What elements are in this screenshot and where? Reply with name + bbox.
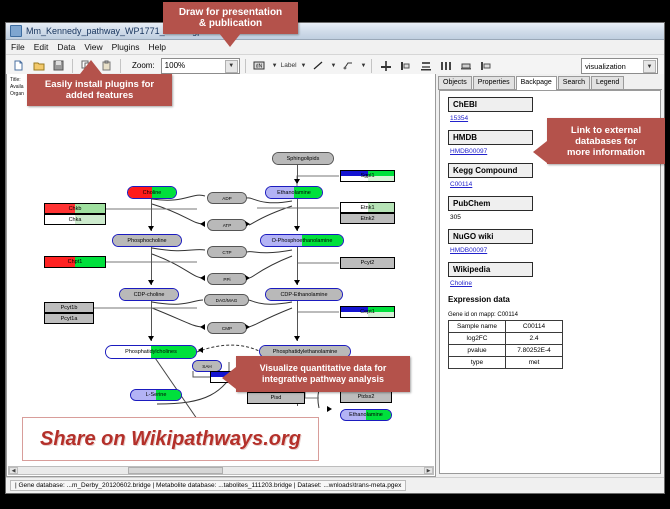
node-label: Pcyt1b — [61, 305, 78, 311]
callout-links-pointer — [533, 141, 547, 163]
metabolite-node-phosphocholine[interactable]: Phosphocholine — [112, 234, 182, 247]
callout-plugins-line2: added features — [66, 90, 134, 101]
row-key: Sample name — [449, 321, 506, 333]
statusbar: | Gene database: ...m_Derby_20120602.bri… — [6, 477, 664, 493]
node-label: Ethanolamine — [277, 190, 311, 196]
callout-plugins-line1: Easily install plugins for — [45, 79, 154, 90]
gene-node-etnk2[interactable]: Etnk2 — [340, 213, 395, 224]
zoom-label: Zoom: — [132, 61, 155, 70]
db-header-nugo-wiki: NuGO wiki — [448, 229, 533, 244]
metabolite-node-cdp-choline[interactable]: CDP-choline — [119, 288, 179, 301]
metabolite-node-ctp[interactable]: CTP — [207, 246, 247, 258]
visualization-value: visualization — [585, 62, 626, 71]
toolbar-separator — [120, 59, 121, 73]
node-label: CDP-Ethanolamine — [280, 292, 327, 298]
db-header-chebi: ChEBI — [448, 97, 533, 112]
chevron-down-icon[interactable]: ▼ — [330, 63, 336, 69]
row-key: pvalue — [449, 345, 506, 357]
new-file-icon[interactable] — [10, 57, 27, 74]
visualization-combobox[interactable]: visualization ▼ — [581, 58, 658, 74]
window-titlebar: Mm_Kennedy_pathway_WP1771_45176.gpml — [6, 23, 664, 40]
line-icon[interactable] — [309, 57, 326, 74]
db-value-pubchem: 305 — [450, 214, 654, 221]
callout-links-line2: databases for — [575, 136, 637, 147]
callout-draw-line2: & publication — [199, 18, 262, 29]
metabolite-node-sah[interactable]: SAH — [192, 360, 222, 372]
node-label: ADP — [222, 196, 231, 201]
row-key: log2FC — [449, 333, 506, 345]
app-icon — [10, 25, 22, 37]
tab-properties[interactable]: Properties — [473, 76, 515, 89]
row-key: type — [449, 357, 506, 369]
callout-links: Link to external databases for more info… — [547, 118, 665, 164]
metabolite-node-choline[interactable]: Choline — [127, 186, 177, 199]
gene-node-pcyt2[interactable]: Pcyt2 — [340, 257, 395, 269]
toolbar-separator — [245, 59, 246, 73]
align-top-icon[interactable] — [377, 57, 394, 74]
menu-data[interactable]: Data — [57, 42, 75, 52]
label-tool-label[interactable]: Label — [281, 62, 297, 69]
node-label: Phosphocholine — [127, 238, 166, 244]
zoom-value: 100% — [165, 61, 185, 70]
node-label: CDP-choline — [134, 292, 165, 298]
node-label: SAH — [202, 364, 211, 369]
arrow-icon — [294, 226, 300, 231]
arrow-icon — [198, 347, 203, 353]
callout-draw-line1: Draw for presentation — [179, 7, 282, 18]
db-header-kegg-compound: Kegg Compound — [448, 163, 533, 178]
callout-draw-pointer — [219, 33, 241, 47]
chevron-down-icon[interactable]: ▼ — [360, 63, 366, 69]
callout-share-text: Share on Wikipathways.org — [40, 428, 301, 451]
toolbar-separator — [72, 59, 73, 73]
scroll-left-icon[interactable]: ◀ — [9, 467, 18, 474]
gene-node-pisd[interactable]: Pisd — [247, 392, 305, 404]
node-label: Chkb — [69, 206, 82, 212]
metabolite-node-phosphatidylcholines[interactable]: Phosphatidylcholines — [105, 345, 197, 359]
distribute-icon[interactable] — [437, 57, 454, 74]
gene-node-chka[interactable]: Chka — [44, 214, 106, 225]
save-icon[interactable] — [50, 57, 67, 74]
db-link-kegg-compound[interactable]: C00114 — [450, 181, 654, 188]
metabolite-node-l-serine[interactable]: L-Serine — [130, 389, 182, 401]
metabolite-node-cmp[interactable]: CMP — [207, 322, 247, 334]
menu-view[interactable]: View — [84, 42, 102, 52]
menu-edit[interactable]: Edit — [34, 42, 49, 52]
node-label: ATP — [223, 223, 232, 228]
arrow-icon — [148, 336, 154, 341]
metabolite-node-ethanolamine[interactable]: Ethanolamine — [265, 186, 323, 199]
node-label: O-Phosphoethanolamine — [272, 238, 333, 244]
arrow-icon — [200, 324, 205, 330]
db-header-hmdb: HMDB — [448, 130, 533, 145]
gene-id-line: Gene id on mapp: C00114 — [448, 312, 654, 318]
screenshot-root: Mm_Kennedy_pathway_WP1771_45176.gpml Fil… — [0, 0, 670, 509]
db-header-wikipedia: Wikipedia — [448, 262, 533, 277]
menu-help[interactable]: Help — [149, 42, 166, 52]
gene-node-cept1[interactable]: Cept1 — [340, 306, 395, 318]
gene-node-etnk1[interactable]: Etnk1 — [340, 202, 395, 213]
metabolite-node-cdp-ethanolamine[interactable]: CDP-Ethanolamine — [265, 288, 343, 301]
node-label: Phosphatidylcholines — [125, 349, 177, 355]
table-row: type met — [449, 357, 563, 369]
callout-links-line3: more information — [567, 147, 645, 158]
flow-line — [297, 301, 298, 341]
chevron-down-icon[interactable]: ▼ — [643, 60, 656, 73]
node-label: Phosphatidylethanolamine — [273, 349, 338, 355]
arrow-icon — [327, 406, 332, 412]
db-header-pubchem: PubChem — [448, 196, 533, 211]
callout-visualize-line1: Visualize quantitative data for — [260, 363, 387, 374]
arrow-icon — [200, 275, 205, 281]
interaction-icon[interactable] — [339, 57, 356, 74]
gene-node-sgpl1[interactable]: Sgpl1 — [340, 170, 395, 182]
node-label: CMP — [222, 326, 232, 331]
arrow-icon — [294, 179, 300, 184]
callout-draw: Draw for presentation & publication — [163, 2, 298, 34]
statusbar-text: | Gene database: ...m_Derby_20120602.bri… — [10, 480, 406, 491]
open-folder-icon[interactable] — [30, 57, 47, 74]
table-row: Sample name C00114 — [449, 321, 563, 333]
metabolite-node-o-phosphoethanolamine[interactable]: O-Phosphoethanolamine — [260, 234, 344, 247]
node-label: PPi — [223, 277, 230, 282]
callout-visualize: Visualize quantitative data for integrat… — [236, 356, 410, 392]
canvas-horizontal-scrollbar[interactable]: ◀ ▶ — [8, 466, 434, 475]
expression-data-title: Expression data — [448, 295, 654, 304]
gene-node-chkb[interactable]: Chkb — [44, 203, 106, 214]
gene-node-pcyt1a[interactable]: Pcyt1a — [44, 313, 94, 324]
menubar: File Edit Data View Plugins Help — [6, 40, 664, 55]
tab-objects[interactable]: Objects — [438, 76, 472, 89]
callout-visualize-pointer — [222, 367, 236, 389]
node-label: Ptdss2 — [358, 394, 375, 400]
table-row: log2FC 2.4 — [449, 333, 563, 345]
toolbar-separator — [371, 59, 372, 73]
chevron-down-icon[interactable]: ▼ — [225, 60, 238, 73]
callout-visualize-line2: integrative pathway analysis — [262, 374, 384, 385]
order-icon[interactable] — [477, 57, 494, 74]
node-label: Ethanolamine — [349, 412, 383, 418]
db-link-wikipedia[interactable]: Choline — [450, 280, 654, 287]
metabolite-node-atp[interactable]: ATP — [207, 219, 247, 231]
side-panel-tabstrip: Objects Properties Backpage Search Legen… — [438, 76, 662, 90]
arrow-icon — [148, 280, 154, 285]
db-link-nugo-wiki[interactable]: HMDB00097 — [450, 247, 654, 254]
row-value: 2.4 — [506, 333, 563, 345]
scrollbar-thumb[interactable] — [128, 467, 223, 474]
table-row: pvalue 7.80252E-4 — [449, 345, 563, 357]
tab-backpage[interactable]: Backpage — [516, 76, 557, 90]
align-left-icon[interactable] — [397, 57, 414, 74]
datanode-icon[interactable]: dN — [251, 57, 268, 74]
callout-plugins: Easily install plugins for added feature… — [27, 74, 172, 106]
zoom-combobox[interactable]: 100% ▼ — [161, 58, 240, 74]
arrow-icon — [294, 280, 300, 285]
chevron-down-icon[interactable]: ▼ — [272, 63, 278, 69]
row-value: C00114 — [506, 321, 563, 333]
row-value: met — [506, 357, 563, 369]
stack-icon[interactable] — [417, 57, 434, 74]
gene-node-ptdss2[interactable]: Ptdss2 — [340, 391, 392, 403]
node-label: Pcyt1a — [61, 316, 78, 322]
scroll-right-icon[interactable]: ▶ — [424, 467, 433, 474]
tab-search[interactable]: Search — [558, 76, 590, 89]
metabolite-node-ethanolamine[interactable]: Ethanolamine — [340, 409, 392, 421]
node-label: Pisd — [271, 395, 282, 401]
callout-share-box: Share on Wikipathways.org — [22, 417, 319, 461]
gene-node-chpt1[interactable]: Chpt1 — [44, 256, 106, 268]
chevron-down-icon[interactable]: ▼ — [301, 63, 307, 69]
svg-text:dN: dN — [256, 64, 263, 70]
group-icon[interactable] — [457, 57, 474, 74]
node-label: Sphingolipids — [287, 156, 320, 162]
node-label: Choline — [143, 190, 162, 196]
metabolite-node-sphingolipids[interactable]: Sphingolipids — [272, 152, 334, 165]
node-label: L-Serine — [146, 392, 167, 398]
node-label: DAG/MAG — [216, 298, 238, 303]
metabolite-node-dag-mag[interactable]: DAG/MAG — [204, 294, 249, 306]
menu-file[interactable]: File — [11, 42, 25, 52]
row-value: 7.80252E-4 — [506, 345, 563, 357]
callout-plugins-pointer — [80, 60, 102, 74]
node-label: Etnk2 — [360, 216, 374, 222]
arrow-icon — [148, 226, 154, 231]
node-label: Etnk1 — [360, 205, 374, 211]
arrow-icon — [200, 221, 205, 227]
flow-line — [151, 301, 152, 341]
metabolite-node-adp[interactable]: ADP — [207, 192, 247, 204]
menu-plugins[interactable]: Plugins — [112, 42, 140, 52]
arrow-icon — [294, 336, 300, 341]
node-label: Cept1 — [360, 309, 375, 315]
node-label: Sgpl1 — [360, 173, 374, 179]
node-label: Chka — [69, 217, 82, 223]
tab-legend[interactable]: Legend — [591, 76, 624, 89]
node-label: CTP — [222, 250, 231, 255]
callout-links-line1: Link to external — [571, 125, 641, 136]
node-label: Chpt1 — [68, 259, 83, 265]
metabolite-node-ppi[interactable]: PPi — [207, 273, 247, 285]
expression-data-table: Sample name C00114 log2FC 2.4 pvalue 7.8… — [448, 320, 563, 369]
gene-node-pcyt1b[interactable]: Pcyt1b — [44, 302, 94, 313]
node-label: Pcyt2 — [361, 260, 375, 266]
